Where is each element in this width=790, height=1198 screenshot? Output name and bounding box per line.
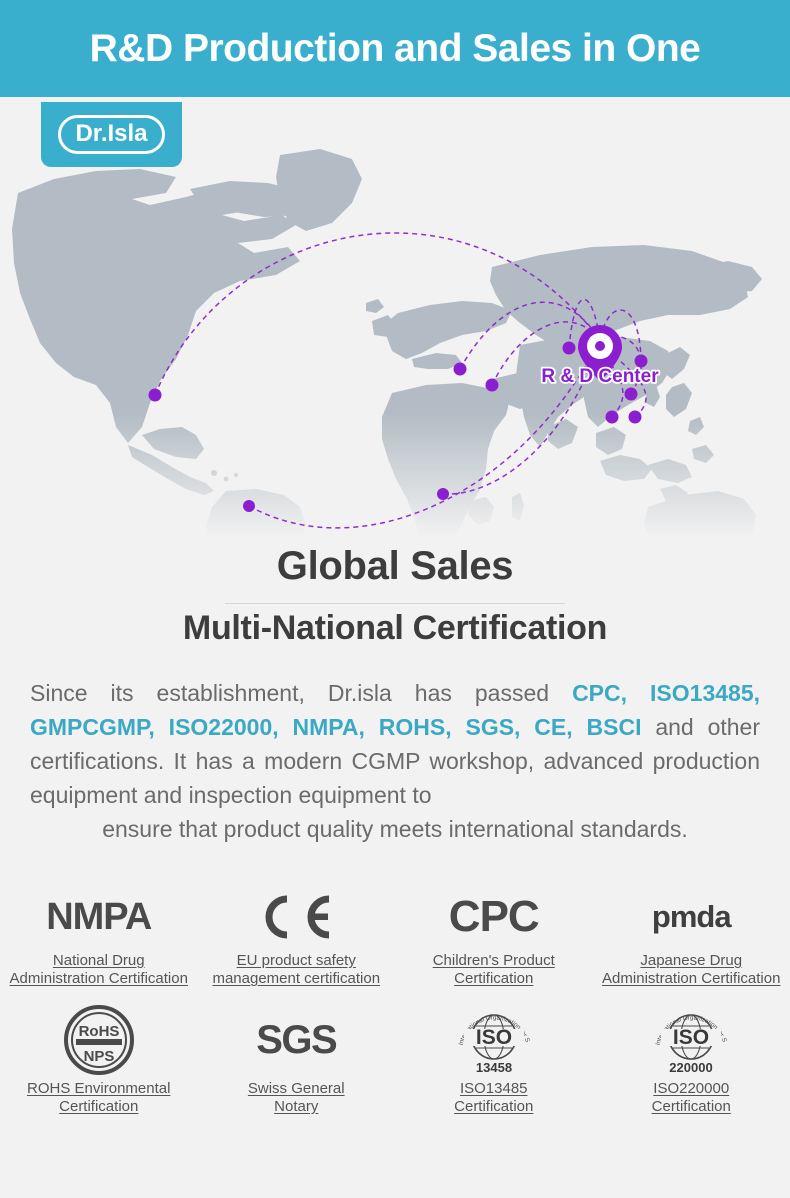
cert-caption-line1: Swiss General (248, 1080, 345, 1098)
cert-caption-line2: Administration Certification (10, 970, 188, 988)
cert-item-sgs: SGS Swiss General Notary (198, 1004, 396, 1116)
cert-caption-line1: EU product safety (212, 952, 380, 970)
cert-caption-line1: National Drug (10, 952, 188, 970)
nmpa-logo-icon: NMPA (46, 886, 151, 948)
page-title: R&D Production and Sales in One (90, 27, 701, 71)
ce-mark-icon (257, 886, 335, 948)
promo-page: R&D Production and Sales in One Dr.Isla (0, 0, 790, 1198)
cert-caption-line2: management certification (212, 970, 380, 988)
iso-seal-icon: International Organization for Standardi… (648, 1004, 734, 1076)
sgs-logo-icon: SGS (256, 1004, 336, 1076)
brand-logo: Dr.Isla (41, 102, 182, 167)
section-heading-certification: Multi-National Certification (0, 609, 790, 648)
pmda-wordmark: pmda (652, 899, 731, 935)
iso-seal-number: 220000 (670, 1060, 713, 1075)
cpc-logo-icon: CPC (449, 886, 539, 948)
cpc-wordmark: CPC (449, 892, 539, 942)
cert-caption: National Drug Administration Certificati… (10, 952, 188, 988)
cert-caption-line2: Certification (27, 1098, 170, 1116)
cert-caption-line2: Administration Certification (602, 970, 780, 988)
cert-caption: ISO220000 Certification (652, 1080, 731, 1116)
cert-caption-line1: Japanese Drug (602, 952, 780, 970)
cert-caption-line1: ISO220000 (652, 1080, 731, 1098)
brand-logo-text: Dr.Isla (58, 115, 164, 154)
pmda-logo-icon: pmda (652, 886, 731, 948)
rohs-seal-text: RoHS (78, 1023, 119, 1040)
map-landmasses (12, 149, 780, 537)
certification-grid: NMPA National Drug Administration Certif… (0, 886, 790, 1116)
cert-caption-line2: Certification (652, 1098, 731, 1116)
paragraph-lead: Since its establishment, Dr.isla has pas… (30, 680, 572, 706)
cert-item-pmda: pmda Japanese Drug Administration Certif… (593, 886, 790, 988)
cert-caption: Swiss General Notary (248, 1080, 345, 1116)
cert-item-rohs: RoHS NPS ROHS Environmental Certificatio… (0, 1004, 198, 1116)
cert-caption: Children's Product Certification (433, 952, 555, 988)
cert-caption: Japanese Drug Administration Certificati… (602, 952, 780, 988)
cert-caption-line1: Children's Product (433, 952, 555, 970)
iso-seal-number: 13458 (476, 1060, 512, 1075)
sgs-wordmark: SGS (256, 1018, 336, 1063)
cert-caption-line1: ROHS Environmental (27, 1080, 170, 1098)
iso-seal-text: ISO (673, 1026, 709, 1049)
iso-seal-text: ISO (476, 1026, 512, 1049)
rd-center-label: R & D Center (541, 366, 659, 387)
heading-divider (225, 603, 565, 604)
cert-caption: ROHS Environmental Certification (27, 1080, 170, 1116)
cert-item-cpc: CPC Children's Product Certification (395, 886, 593, 988)
cert-caption: ISO13485 Certification (454, 1080, 533, 1116)
cert-item-iso13485: International Organization for Standardi… (395, 1004, 593, 1116)
cert-caption-line2: Certification (454, 1098, 533, 1116)
nmpa-wordmark: NMPA (46, 896, 151, 939)
cert-caption-line1: ISO13485 (454, 1080, 533, 1098)
cert-item-iso220000: International Organization for Standardi… (593, 1004, 790, 1116)
rohs-seal-subtext: NPS (83, 1048, 114, 1065)
body-paragraph: Since its establishment, Dr.isla has pas… (30, 676, 760, 846)
cert-caption-line2: Notary (248, 1098, 345, 1116)
page-header: R&D Production and Sales in One (0, 0, 790, 97)
section-heading-global-sales: Global Sales (0, 544, 790, 589)
cert-caption-line2: Certification (433, 970, 555, 988)
cert-item-ce: EU product safety management certificati… (198, 886, 396, 988)
rohs-seal-icon: RoHS NPS (63, 1004, 135, 1076)
cert-caption: EU product safety management certificati… (212, 952, 380, 988)
iso-seal-icon: International Organization for Standardi… (451, 1004, 537, 1076)
cert-item-nmpa: NMPA National Drug Administration Certif… (0, 886, 198, 988)
paragraph-last-line: ensure that product quality meets intern… (30, 812, 760, 846)
